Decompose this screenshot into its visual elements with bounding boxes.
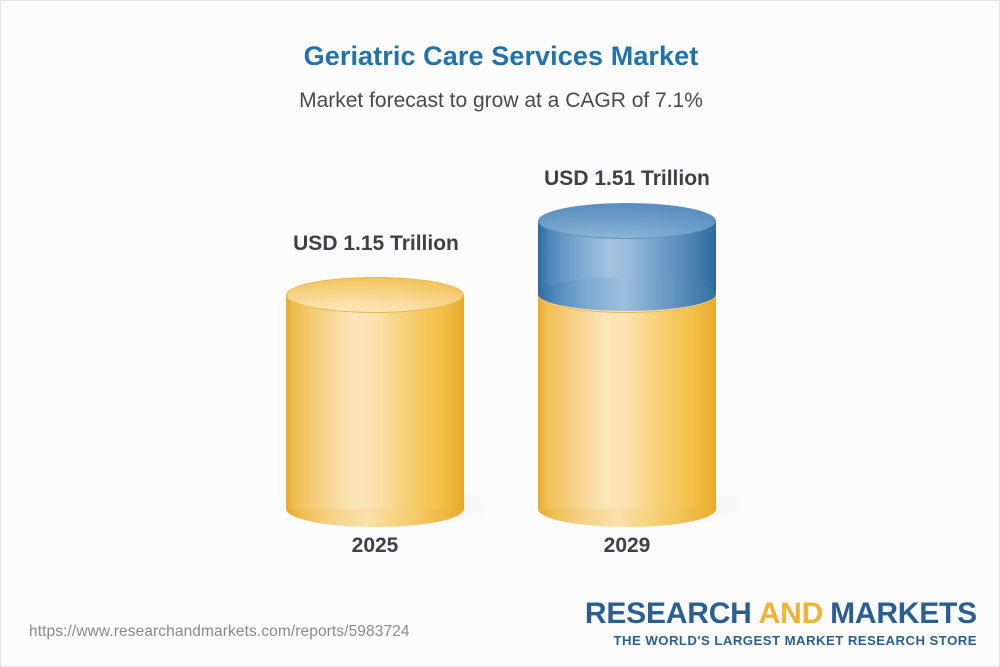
bar-2029-base-body xyxy=(538,295,716,509)
logo-word-markets: MARKETS xyxy=(830,597,977,630)
logo-word-research: RESEARCH xyxy=(585,597,752,630)
data-label-2025: USD 1.15 Trillion xyxy=(276,232,476,256)
bar-2025 xyxy=(286,277,464,511)
bar-2029-growth-base-ellipse xyxy=(538,277,716,311)
research-and-markets-logo[interactable]: RESEARCHANDMARKETS THE WORLD'S LARGEST M… xyxy=(585,599,977,647)
source-url[interactable]: https://www.researchandmarkets.com/repor… xyxy=(29,623,410,641)
chart-page: Geriatric Care Services Market Market fo… xyxy=(0,0,1000,667)
bar-2025-top-ellipse xyxy=(286,277,464,313)
logo-word-and: AND xyxy=(759,597,823,630)
data-label-2029: USD 1.51 Trillion xyxy=(527,167,727,191)
category-label-2025: 2025 xyxy=(275,534,475,558)
logo-tagline: THE WORLD'S LARGEST MARKET RESEARCH STOR… xyxy=(585,634,977,647)
bar-2029-growth-top-ellipse xyxy=(538,203,716,239)
bar-2025-base-body xyxy=(286,295,464,509)
bar-2029 xyxy=(538,203,716,511)
category-label-2029: 2029 xyxy=(527,534,727,558)
chart-plot-area: USD 1.15 Trillion 2025 USD 1.51 Trillion… xyxy=(1,1,1000,667)
logo-wordmark: RESEARCHANDMARKETS xyxy=(585,599,977,629)
